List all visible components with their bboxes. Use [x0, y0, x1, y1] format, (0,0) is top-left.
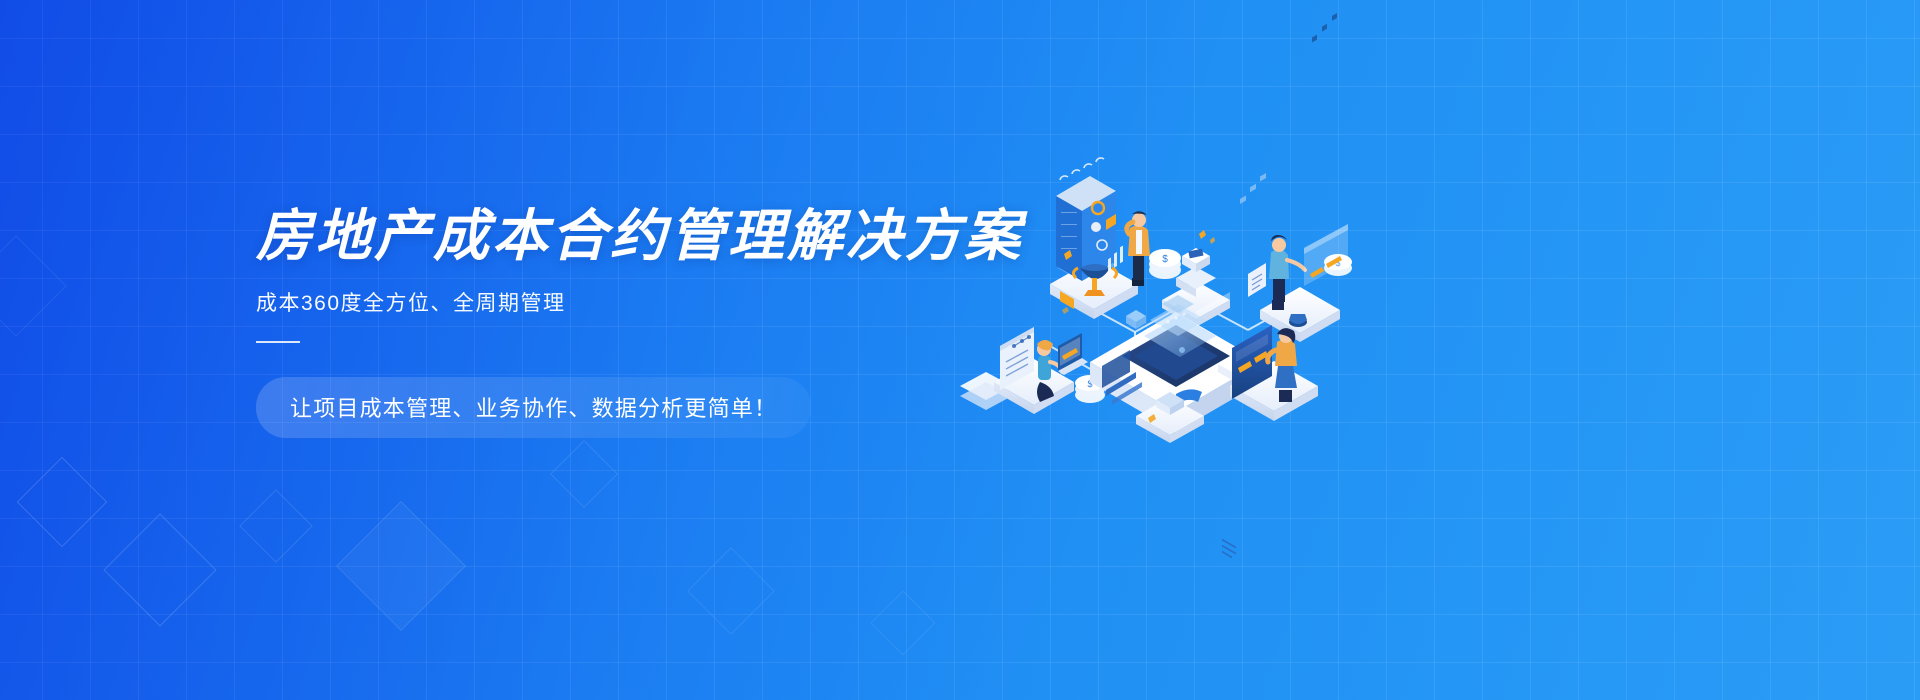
tagline-badge: 让项目成本管理、业务协作、数据分析更简单！	[256, 377, 811, 438]
coin-stack: $	[1149, 249, 1181, 279]
page-subtitle: 成本360度全方位、全周期管理	[256, 287, 1016, 317]
hero-banner: 房地产成本合约管理解决方案 成本360度全方位、全周期管理 让项目成本管理、业务…	[0, 0, 1920, 700]
hero-copy-block: 房地产成本合约管理解决方案 成本360度全方位、全周期管理 让项目成本管理、业务…	[256, 206, 1016, 438]
page-title: 房地产成本合约管理解决方案	[256, 206, 1016, 265]
laptop-chart	[1058, 333, 1088, 375]
standing-man	[1127, 211, 1150, 286]
title-divider	[256, 341, 300, 343]
tagline-container: 让项目成本管理、业务协作、数据分析更简单！	[256, 377, 811, 438]
isometric-illustration: $ $ $	[930, 150, 1400, 440]
svg-text:$: $	[1162, 254, 1168, 265]
floating-cube	[1126, 310, 1146, 329]
cup-icon	[1289, 314, 1307, 327]
document-icon-small	[1248, 263, 1266, 297]
